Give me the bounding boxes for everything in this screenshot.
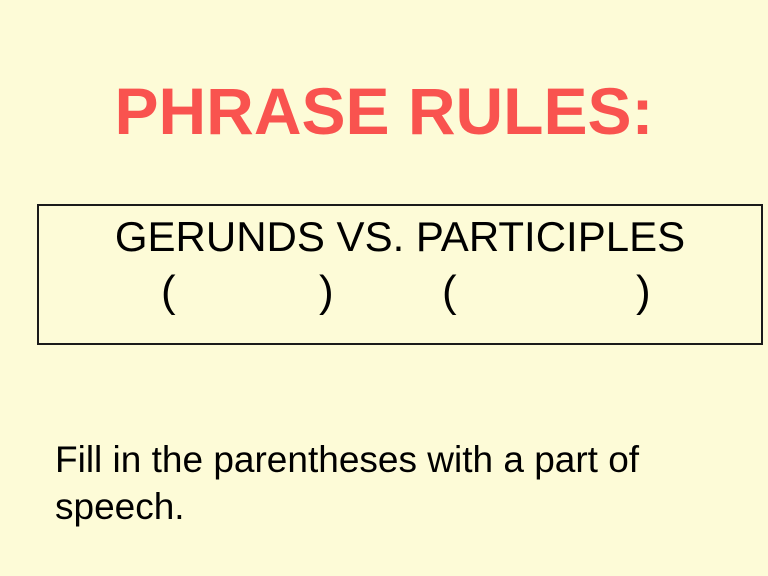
content-box-heading: GERUNDS VS. PARTICIPLES [39, 216, 761, 258]
page-title: PHRASE RULES: [0, 78, 768, 144]
content-box: GERUNDS VS. PARTICIPLES ( ) ( ) [37, 204, 763, 345]
instruction-text: Fill in the parentheses with a part of s… [55, 436, 680, 530]
paren-open-1: ( [161, 270, 176, 314]
paren-open-2: ( [442, 270, 457, 314]
blank-parentheses-row: ( ) ( ) [39, 270, 761, 332]
paren-close-1: ) [319, 270, 334, 314]
slide-canvas: PHRASE RULES: GERUNDS VS. PARTICIPLES ( … [0, 0, 768, 576]
paren-close-2: ) [636, 270, 651, 314]
